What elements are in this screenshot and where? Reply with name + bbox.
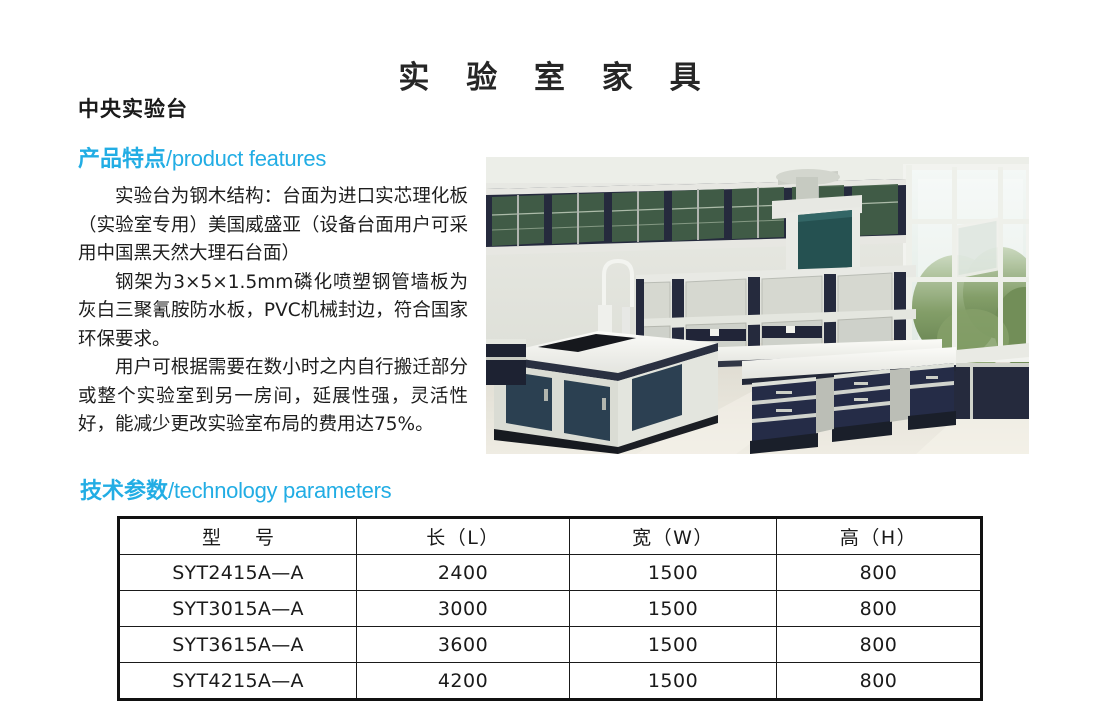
features-heading-en: product features: [172, 146, 326, 171]
cell-model: SYT3015A—A: [119, 591, 357, 627]
cell-width: 1500: [570, 555, 777, 591]
column-header-width: 宽（W）: [570, 518, 777, 555]
table-row: SYT4215A—A 4200 1500 800: [119, 663, 982, 700]
cell-width: 1500: [570, 663, 777, 700]
product-description-column: 中央实验台 产品特点/product features 实验台为钢木结构：台面为…: [78, 93, 468, 440]
page-title: 实 验 室 家 具: [0, 52, 1099, 97]
cell-height: 800: [777, 555, 982, 591]
cell-length: 2400: [357, 555, 570, 591]
laboratory-bench-photo: [486, 157, 1029, 454]
table-row: SYT3015A—A 3000 1500 800: [119, 591, 982, 627]
cell-model: SYT4215A—A: [119, 663, 357, 700]
column-header-height: 高（H）: [777, 518, 982, 555]
features-heading-cn: 产品特点: [78, 147, 166, 172]
cell-model: SYT3615A—A: [119, 627, 357, 663]
cell-model: SYT2415A—A: [119, 555, 357, 591]
column-header-model: 型 号: [119, 518, 357, 555]
cell-width: 1500: [570, 627, 777, 663]
cell-height: 800: [777, 627, 982, 663]
technology-parameters-heading: 技术参数/technology parameters: [80, 473, 391, 505]
product-name-heading: 中央实验台: [78, 93, 468, 123]
table-row: SYT2415A—A 2400 1500 800: [119, 555, 982, 591]
table-header-row: 型 号 长（L） 宽（W） 高（H）: [119, 518, 982, 555]
feature-paragraph-1: 实验台为钢木结构：台面为进口实芯理化板（实验室专用）美国威盛亚（设备台面用户可采…: [78, 183, 468, 269]
photo-illustration: [486, 157, 1029, 454]
product-features-heading: 产品特点/product features: [78, 141, 468, 173]
params-heading-cn: 技术参数: [80, 479, 168, 504]
params-heading-en: technology parameters: [174, 478, 392, 503]
column-header-length: 长（L）: [357, 518, 570, 555]
cell-height: 800: [777, 591, 982, 627]
cell-length: 4200: [357, 663, 570, 700]
specification-table: 型 号 长（L） 宽（W） 高（H） SYT2415A—A 2400 1500 …: [117, 516, 983, 701]
cell-length: 3000: [357, 591, 570, 627]
cell-length: 3600: [357, 627, 570, 663]
cell-height: 800: [777, 663, 982, 700]
cell-width: 1500: [570, 591, 777, 627]
feature-paragraph-2: 钢架为3×5×1.5mm磷化喷塑钢管墙板为灰白三聚氰胺防水板，PVC机械封边，符…: [78, 269, 468, 355]
table-row: SYT3615A—A 3600 1500 800: [119, 627, 982, 663]
feature-paragraph-3: 用户可根据需要在数小时之内自行搬迁部分或整个实验室到另一房间，延展性强，灵活性好…: [78, 354, 468, 440]
